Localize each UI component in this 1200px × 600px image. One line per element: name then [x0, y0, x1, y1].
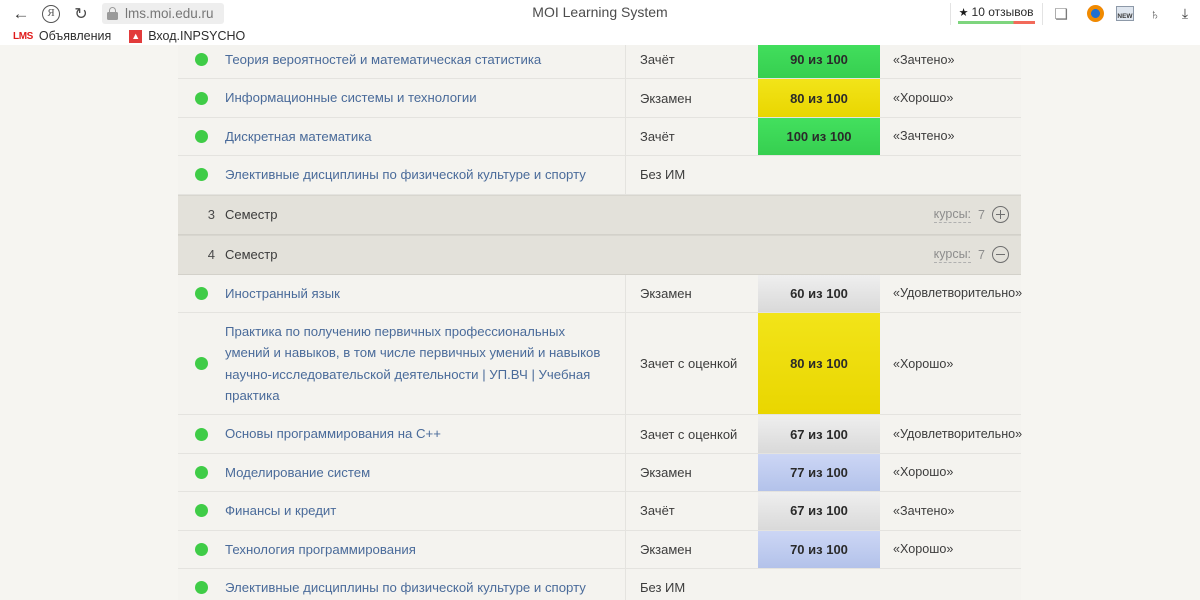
- course-mark-cell: «Зачтено»: [880, 45, 1021, 78]
- pocket-icon: ♄: [1150, 6, 1161, 22]
- semester-number: 3: [178, 207, 225, 222]
- course-name-link[interactable]: Теория вероятностей и математическая ста…: [225, 49, 541, 70]
- course-row: Моделирование системЭкзамен77 из 100«Хор…: [178, 454, 1021, 492]
- course-score-cell: [758, 569, 880, 600]
- semester-courses-label: курсы:: [934, 247, 971, 263]
- course-type-cell: Экзамен: [625, 275, 758, 312]
- course-mark-cell: «Хорошо»: [880, 531, 1021, 568]
- address-bar[interactable]: lms.moi.edu.ru: [102, 3, 224, 24]
- course-score-cell: 70 из 100: [758, 531, 880, 568]
- course-name-cell[interactable]: Технология программирования: [225, 531, 625, 568]
- opera-icon: [1087, 5, 1104, 22]
- status-dot-icon: [195, 357, 208, 370]
- course-row: Финансы и кредитЗачёт67 из 100«Зачтено»: [178, 492, 1021, 530]
- course-type-cell: Без ИМ: [625, 156, 758, 193]
- course-status-cell: [178, 275, 225, 312]
- course-row: Дискретная математикаЗачёт100 из 100«Зач…: [178, 118, 1021, 156]
- status-dot-icon: [195, 466, 208, 479]
- course-name-link[interactable]: Элективные дисциплины по физической куль…: [225, 577, 586, 598]
- course-status-cell: [178, 79, 225, 116]
- course-mark-cell: «Зачтено»: [880, 118, 1021, 155]
- bookmark-label: Вход.INPSYCHO: [148, 29, 245, 43]
- star-icon: ★: [959, 6, 969, 19]
- browser-chrome: ← Я ↻ lms.moi.edu.ru ★ 10 отзывов ❏ NEW: [0, 0, 1200, 45]
- browser-toolbar: ← Я ↻ lms.moi.edu.ru ★ 10 отзывов ❏ NEW: [0, 0, 1200, 27]
- semester-courses-info: курсы:7: [934, 206, 1021, 223]
- course-type-cell: Экзамен: [625, 79, 758, 116]
- pocket-extension-button[interactable]: ♄: [1140, 2, 1170, 26]
- course-score-cell: 67 из 100: [758, 415, 880, 452]
- course-type-cell: Зачёт: [625, 118, 758, 155]
- news-extension-button[interactable]: NEW: [1110, 2, 1140, 26]
- status-dot-icon: [195, 428, 208, 441]
- downloads-button[interactable]: ⤓: [1170, 2, 1200, 26]
- bookmark-icon[interactable]: ❏: [1043, 5, 1080, 23]
- reload-icon[interactable]: ↻: [66, 2, 96, 26]
- course-name-cell[interactable]: Моделирование систем: [225, 454, 625, 491]
- course-name-link[interactable]: Практика по получению первичных професси…: [225, 321, 611, 407]
- grades-table: Теория вероятностей и математическая ста…: [178, 45, 1021, 600]
- course-status-cell: [178, 492, 225, 529]
- course-score-cell: 80 из 100: [758, 79, 880, 116]
- reviews-count-label: 10 отзывов: [972, 5, 1034, 19]
- course-name-cell[interactable]: Основы программирования на C++: [225, 415, 625, 452]
- course-status-cell: [178, 454, 225, 491]
- course-score-cell: 60 из 100: [758, 275, 880, 312]
- bookmark-item-inpsycho[interactable]: ▲ Вход.INPSYCHO: [120, 29, 254, 43]
- course-mark-cell: [880, 569, 1021, 600]
- course-mark-cell: «Удовлетворительно»: [880, 415, 1021, 452]
- course-mark-cell: «Хорошо»: [880, 79, 1021, 116]
- download-icon: ⤓: [1182, 5, 1188, 22]
- status-dot-icon: [195, 53, 208, 66]
- semester-label: Семестр: [225, 247, 934, 262]
- bookmark-label: Объявления: [39, 29, 111, 43]
- course-type-cell: Зачёт: [625, 45, 758, 78]
- course-mark-cell: [880, 156, 1021, 193]
- course-type-cell: Без ИМ: [625, 569, 758, 600]
- course-name-cell[interactable]: Элективные дисциплины по физической куль…: [225, 156, 625, 193]
- course-score-cell: 90 из 100: [758, 45, 880, 78]
- semester-courses-info: курсы:7: [934, 246, 1021, 263]
- course-score-cell: 80 из 100: [758, 313, 880, 415]
- bookmarks-bar: LMS Объявления ▲ Вход.INPSYCHO: [0, 27, 1200, 45]
- course-mark-cell: «Хорошо»: [880, 313, 1021, 415]
- course-row: Основы программирования на C++Зачет с оц…: [178, 415, 1021, 453]
- status-dot-icon: [195, 130, 208, 143]
- course-mark-cell: «Зачтено»: [880, 492, 1021, 529]
- page-content-area: Теория вероятностей и математическая ста…: [0, 45, 1200, 600]
- course-row: Иностранный языкЭкзамен60 из 100«Удовлет…: [178, 275, 1021, 313]
- course-type-cell: Зачет с оценкой: [625, 415, 758, 452]
- course-mark-cell: «Удовлетворительно»: [880, 275, 1021, 312]
- course-name-link[interactable]: Финансы и кредит: [225, 500, 336, 521]
- bookmark-item-announcements[interactable]: LMS Объявления: [4, 29, 120, 43]
- course-score-cell: 100 из 100: [758, 118, 880, 155]
- status-dot-icon: [195, 581, 208, 594]
- course-name-link[interactable]: Элективные дисциплины по физической куль…: [225, 164, 586, 185]
- course-type-cell: Зачёт: [625, 492, 758, 529]
- course-status-cell: [178, 569, 225, 600]
- course-name-cell[interactable]: Информационные системы и технологии: [225, 79, 625, 116]
- course-status-cell: [178, 415, 225, 452]
- reviews-rating-bar: [958, 21, 1035, 24]
- course-name-link[interactable]: Информационные системы и технологии: [225, 87, 477, 108]
- course-name-cell[interactable]: Дискретная математика: [225, 118, 625, 155]
- collapse-minus-icon[interactable]: [992, 246, 1009, 263]
- course-name-cell[interactable]: Элективные дисциплины по физической куль…: [225, 569, 625, 600]
- lms-favicon-icon: LMS: [13, 31, 33, 42]
- opera-extension-button[interactable]: [1080, 2, 1110, 26]
- course-row: Практика по получению первичных професси…: [178, 313, 1021, 416]
- semester-label: Семестр: [225, 207, 934, 222]
- expand-plus-icon[interactable]: [992, 206, 1009, 223]
- course-name-link[interactable]: Основы программирования на C++: [225, 423, 441, 444]
- course-name-link[interactable]: Технология программирования: [225, 539, 416, 560]
- yandex-button[interactable]: Я: [36, 2, 66, 26]
- course-type-cell: Зачет с оценкой: [625, 313, 758, 415]
- course-score-cell: [758, 156, 880, 193]
- course-row: Элективные дисциплины по физической куль…: [178, 156, 1021, 194]
- semester-courses-count: 7: [978, 248, 985, 262]
- course-mark-cell: «Хорошо»: [880, 454, 1021, 491]
- course-type-cell: Экзамен: [625, 454, 758, 491]
- status-dot-icon: [195, 504, 208, 517]
- course-row: Элективные дисциплины по физической куль…: [178, 569, 1021, 600]
- course-status-cell: [178, 156, 225, 193]
- course-score-cell: 67 из 100: [758, 492, 880, 529]
- url-text: lms.moi.edu.ru: [125, 6, 214, 21]
- semester-number: 4: [178, 247, 225, 262]
- status-dot-icon: [195, 543, 208, 556]
- course-status-cell: [178, 118, 225, 155]
- inpsycho-favicon-icon: ▲: [129, 30, 142, 43]
- semester-row[interactable]: 3Семестркурсы:7: [178, 195, 1021, 235]
- course-score-cell: 77 из 100: [758, 454, 880, 491]
- status-dot-icon: [195, 92, 208, 105]
- chrome-right-actions: ★ 10 отзывов ❏ NEW ♄ ⤓: [950, 0, 1200, 27]
- course-row: Технология программированияЭкзамен70 из …: [178, 531, 1021, 569]
- lock-icon: [106, 7, 119, 20]
- status-dot-icon: [195, 168, 208, 181]
- course-row: Теория вероятностей и математическая ста…: [178, 45, 1021, 79]
- course-name-link[interactable]: Моделирование систем: [225, 462, 370, 483]
- course-name-cell[interactable]: Теория вероятностей и математическая ста…: [225, 45, 625, 78]
- course-row: Информационные системы и технологииЭкзам…: [178, 79, 1021, 117]
- status-dot-icon: [195, 287, 208, 300]
- course-name-link[interactable]: Дискретная математика: [225, 126, 372, 147]
- course-type-cell: Экзамен: [625, 531, 758, 568]
- back-icon[interactable]: ←: [6, 2, 36, 26]
- course-status-cell: [178, 531, 225, 568]
- course-name-cell[interactable]: Иностранный язык: [225, 275, 625, 312]
- semester-courses-label: курсы:: [934, 207, 971, 223]
- semester-courses-count: 7: [978, 208, 985, 222]
- course-name-cell[interactable]: Практика по получению первичных професси…: [225, 313, 625, 415]
- yandex-icon: Я: [42, 5, 60, 23]
- course-name-cell[interactable]: Финансы и кредит: [225, 492, 625, 529]
- course-name-link[interactable]: Иностранный язык: [225, 283, 340, 304]
- course-status-cell: [178, 313, 225, 415]
- reviews-badge[interactable]: ★ 10 отзывов: [950, 3, 1043, 25]
- course-status-cell: [178, 45, 225, 78]
- news-icon: NEW: [1116, 6, 1134, 21]
- semester-row[interactable]: 4Семестркурсы:7: [178, 235, 1021, 275]
